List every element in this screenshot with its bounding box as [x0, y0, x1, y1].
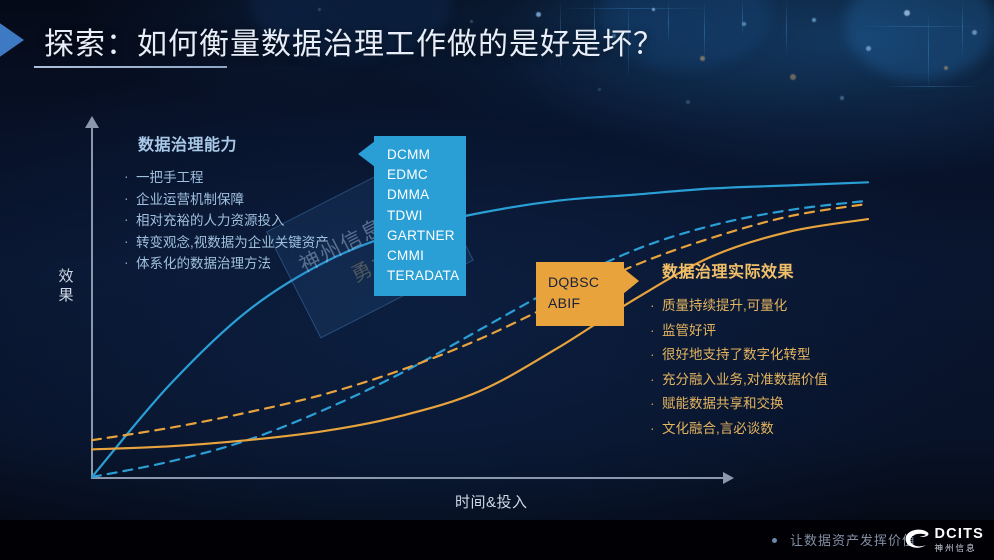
list-item: EDMC: [387, 165, 466, 185]
list-item: TERADATA: [387, 266, 466, 286]
list-item: 监管好评: [648, 319, 918, 344]
capability-panel-heading: 数据治理能力: [138, 131, 372, 155]
list-item: CMMI: [387, 246, 466, 266]
list-item: TDWI: [387, 206, 466, 226]
brand-logo: DCITS 神州信息: [904, 527, 985, 552]
list-item: DQBSC: [548, 272, 624, 293]
tools-list: DQBSC ABIF: [536, 262, 624, 314]
footer-bar: 让数据资产发挥价值 DCITS 神州信息: [0, 520, 994, 560]
list-item: 企业运营机制保障: [122, 189, 372, 211]
list-item: 相对充裕的人力资源投入: [122, 210, 372, 232]
tools-box-tab-icon: [623, 268, 639, 294]
list-item: 转变观念,视数据为企业关键资产: [122, 232, 372, 254]
list-item: 赋能数据共享和交换: [648, 392, 918, 417]
list-item: ABIF: [548, 293, 624, 314]
list-item: 充分融入业务,对准数据价值: [648, 368, 918, 393]
footer-tagline: 让数据资产发挥价值: [790, 530, 916, 549]
effect-panel: 数据治理实际效果 质量持续提升,可量化 监管好评 很好地支持了数字化转型 充分融…: [648, 258, 918, 441]
logo-text: DCITS 神州信息: [935, 527, 985, 552]
list-item: 一把手工程: [122, 167, 372, 189]
list-item: 文化融合,言必谈数: [648, 417, 918, 442]
standards-list: DCMM EDMC DMMA TDWI GARTNER CMMI TERADAT…: [374, 136, 466, 286]
effect-panel-heading: 数据治理实际效果: [662, 258, 918, 282]
footer-bullet-icon: [772, 538, 777, 543]
logo-cn: 神州信息: [935, 544, 985, 553]
list-item: DMMA: [387, 185, 466, 205]
logo-en: DCITS: [935, 527, 985, 542]
list-item: 质量持续提升,可量化: [648, 294, 918, 319]
tools-box: DQBSC ABIF: [536, 262, 624, 326]
capability-panel: 数据治理能力 一把手工程 企业运营机制保障 相对充裕的人力资源投入 转变观念,视…: [122, 131, 372, 275]
list-item: DCMM: [387, 145, 466, 165]
list-item: GARTNER: [387, 226, 466, 246]
list-item: 很好地支持了数字化转型: [648, 343, 918, 368]
standards-box: DCMM EDMC DMMA TDWI GARTNER CMMI TERADAT…: [374, 136, 466, 296]
capability-bullet-list: 一把手工程 企业运营机制保障 相对充裕的人力资源投入 转变观念,视数据为企业关键…: [122, 167, 372, 275]
standards-box-tab-icon: [358, 141, 375, 167]
dcits-swoosh-icon: [904, 529, 930, 551]
effect-bullet-list: 质量持续提升,可量化 监管好评 很好地支持了数字化转型 充分融入业务,对准数据价…: [648, 294, 918, 441]
list-item: 体系化的数据治理方法: [122, 253, 372, 275]
slide-canvas: 探索：如何衡量数据治理工作做的是好是坏？ 效果 时间&投入 神州信息 勇力志 数…: [0, 0, 994, 560]
